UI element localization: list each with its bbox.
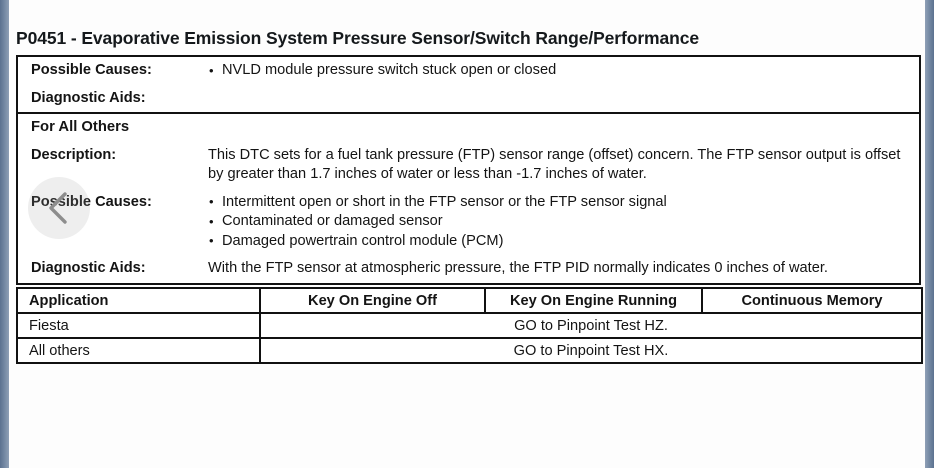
label-description: Description: xyxy=(18,142,208,169)
left-edge-bar xyxy=(0,0,9,468)
cell-result: GO to Pinpoint Test HZ. xyxy=(260,313,922,338)
value-possible-causes: Intermittent open or short in the FTP se… xyxy=(208,189,919,256)
cell-result: GO to Pinpoint Test HX. xyxy=(260,338,922,363)
table-row: Fiesta GO to Pinpoint Test HZ. xyxy=(17,313,922,338)
label-diagnostic-aids-top: Diagnostic Aids: xyxy=(18,85,208,112)
right-edge-bar xyxy=(925,0,934,468)
application-table: Application Key On Engine Off Key On Eng… xyxy=(16,287,923,364)
bullet-list-possible-causes-top: NVLD module pressure switch stuck open o… xyxy=(208,61,909,81)
row-possible-causes-top: Possible Causes: NVLD module pressure sw… xyxy=(18,57,919,85)
list-item: Intermittent open or short in the FTP se… xyxy=(208,193,909,213)
column-header-continuous-memory: Continuous Memory xyxy=(702,288,922,313)
cell-application: Fiesta xyxy=(17,313,260,338)
list-item: NVLD module pressure switch stuck open o… xyxy=(208,61,909,81)
list-item: Damaged powertrain control module (PCM) xyxy=(208,232,909,252)
value-description: This DTC sets for a fuel tank pressure (… xyxy=(208,142,919,189)
section-heading-for-all-others: For All Others xyxy=(18,114,129,142)
row-possible-causes: Possible Causes: Intermittent open or sh… xyxy=(18,189,919,256)
label-possible-causes-top: Possible Causes: xyxy=(18,57,208,84)
row-diagnostic-aids-top: Diagnostic Aids: xyxy=(18,85,919,112)
cell-application: All others xyxy=(17,338,260,363)
column-header-application: Application xyxy=(17,288,260,313)
table-header-row: Application Key On Engine Off Key On Eng… xyxy=(17,288,922,313)
dtc-detail-box: Possible Causes: NVLD module pressure sw… xyxy=(16,55,921,285)
list-item: Contaminated or damaged sensor xyxy=(208,212,909,232)
row-for-all-others-heading: For All Others xyxy=(18,112,919,142)
scanned-page: P0451 - Evaporative Emission System Pres… xyxy=(9,0,925,468)
row-diagnostic-aids: Diagnostic Aids: With the FTP sensor at … xyxy=(18,255,919,283)
bullet-list-possible-causes: Intermittent open or short in the FTP se… xyxy=(208,193,909,252)
label-diagnostic-aids: Diagnostic Aids: xyxy=(18,255,208,282)
document-viewer: P0451 - Evaporative Emission System Pres… xyxy=(0,0,934,468)
column-header-key-on-engine-off: Key On Engine Off xyxy=(260,288,485,313)
table-row: All others GO to Pinpoint Test HX. xyxy=(17,338,922,363)
value-diagnostic-aids: With the FTP sensor at atmospheric press… xyxy=(208,255,919,283)
chevron-left-icon xyxy=(46,191,72,225)
value-diagnostic-aids-top xyxy=(208,85,919,104)
row-description: Description: This DTC sets for a fuel ta… xyxy=(18,142,919,189)
back-gesture-overlay[interactable] xyxy=(28,177,90,239)
column-header-key-on-engine-running: Key On Engine Running xyxy=(485,288,702,313)
value-possible-causes-top: NVLD module pressure switch stuck open o… xyxy=(208,57,919,85)
page-title: P0451 - Evaporative Emission System Pres… xyxy=(16,28,699,49)
